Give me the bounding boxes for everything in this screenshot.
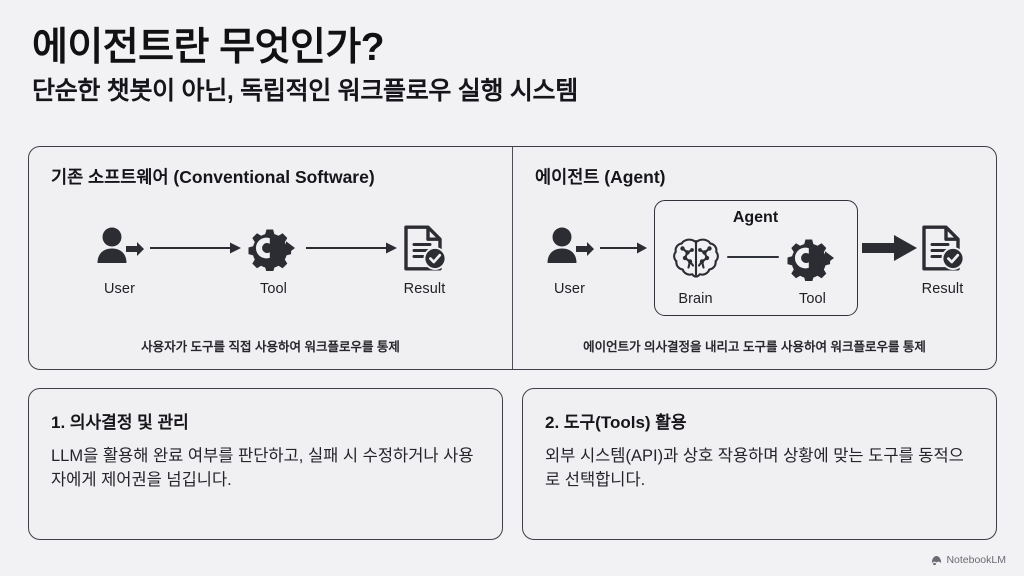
gear-tool-icon <box>246 219 302 277</box>
page-subtitle: 단순한 챗봇이 아닌, 독립적인 워크플로우 실행 시스템 <box>32 76 992 106</box>
notebooklm-logo-icon <box>931 555 942 566</box>
node-brain-label: Brain <box>678 291 712 307</box>
card-title: 2. 도구(Tools) 활용 <box>545 408 974 433</box>
node-result-label: Result <box>404 281 446 297</box>
node-result: Result <box>402 219 448 297</box>
flow-arrow-tool-to-result <box>306 241 398 255</box>
slide-root: 에이전트란 무엇인가? 단순한 챗봇이 아닌, 독립적인 워크플로우 실행 시스… <box>0 0 1024 576</box>
node-user: User <box>544 219 596 297</box>
node-tool-label: Tool <box>260 281 287 297</box>
card-body: LLM을 활용해 완료 여부를 판단하고, 실패 시 수정하거나 사용자에게 제… <box>51 445 480 493</box>
document-check-icon <box>920 219 966 277</box>
flow-arrow-user-to-agent <box>600 241 648 255</box>
agent-column: 에이전트 (Agent) User <box>512 147 996 369</box>
agent-caption: 에이언트가 의사결정을 내리고 도구를 사용하여 워크플로우를 통제 <box>513 336 996 355</box>
node-result-label: Result <box>922 281 964 297</box>
node-user-label: User <box>104 281 135 297</box>
user-icon <box>544 219 596 277</box>
flow-arrow-user-to-tool <box>150 241 242 255</box>
feature-card-tool-usage: 2. 도구(Tools) 활용 외부 시스템(API)과 상호 작용하며 상황에… <box>522 388 997 540</box>
card-title: 1. 의사결정 및 관리 <box>51 408 480 433</box>
node-tool: Tool <box>785 229 841 307</box>
conventional-software-heading: 기존 소프트웨어 (Conventional Software) <box>51 164 375 189</box>
feature-cards: 1. 의사결정 및 관리 LLM을 활용해 완료 여부를 판단하고, 실패 시 … <box>28 388 997 540</box>
gear-tool-icon <box>785 229 841 287</box>
feature-card-decision-management: 1. 의사결정 및 관리 LLM을 활용해 완료 여부를 판단하고, 실패 시 … <box>28 388 503 540</box>
agent-box-title: Agent <box>733 209 778 227</box>
conventional-software-column: 기존 소프트웨어 (Conventional Software) User <box>29 147 512 369</box>
flow-arrow-agent-to-result <box>862 233 918 263</box>
user-icon <box>94 219 146 277</box>
agent-flow-diagram: User Agent <box>513 203 996 313</box>
node-user: User <box>94 219 146 297</box>
notebooklm-label: NotebookLM <box>946 554 1006 566</box>
card-body: 외부 시스템(API)과 상호 작용하며 상황에 맞는 도구를 동적으로 선택합… <box>545 445 974 493</box>
node-result: Result <box>920 219 966 297</box>
document-check-icon <box>402 219 448 277</box>
node-tool-label: Tool <box>799 291 826 307</box>
agent-heading: 에이전트 (Agent) <box>535 164 666 189</box>
page-title: 에이전트란 무엇인가? <box>32 26 992 70</box>
conventional-flow-diagram: User <box>29 203 512 313</box>
agent-internal-connector <box>727 256 779 258</box>
node-user-label: User <box>554 281 585 297</box>
node-brain: Brain <box>671 229 721 307</box>
header: 에이전트란 무엇인가? 단순한 챗봇이 아닌, 독립적인 워크플로우 실행 시스… <box>32 26 992 106</box>
conventional-caption: 사용자가 도구를 직접 사용하여 워크플로우를 통제 <box>29 336 512 355</box>
comparison-panel: 기존 소프트웨어 (Conventional Software) User <box>28 146 997 370</box>
agent-box: Agent <box>654 200 858 316</box>
brain-icon <box>671 229 721 287</box>
node-tool: Tool <box>246 219 302 297</box>
agent-box-inner: Brain <box>671 229 841 307</box>
notebooklm-watermark: NotebookLM <box>931 554 1006 566</box>
